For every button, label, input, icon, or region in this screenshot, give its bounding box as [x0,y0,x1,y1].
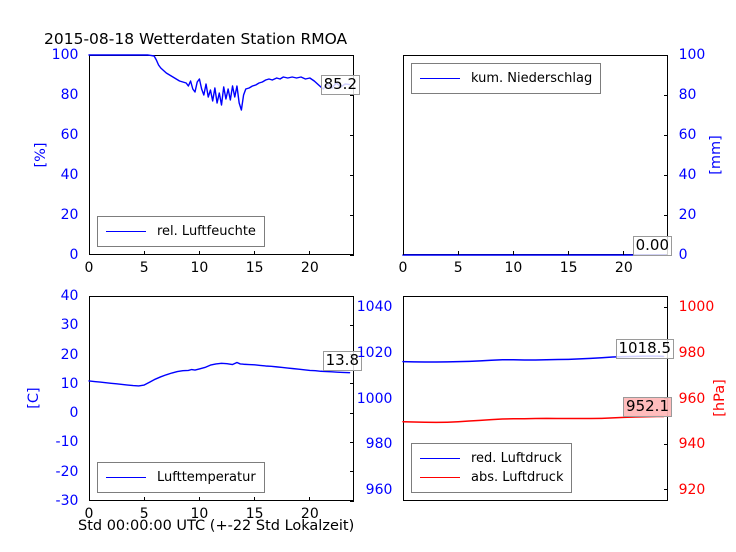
axis-tick-label: 0 [679,248,688,262]
axis-tick-label: 80 [61,88,79,102]
axis-tick-label: 10 [61,377,79,391]
panel-humidity: 020406080100 05101520 [%] rel. Luftfeuch… [89,55,354,255]
axis-tick-label: 60 [61,128,79,142]
axis-tick-mark [664,135,668,136]
axis-tick-mark [350,55,354,56]
axis-tick-mark [664,489,668,490]
axis-tick-mark [199,251,200,255]
legend-row-abs-luftdruck: abs. Luftdruck [420,468,563,487]
axis-tick-label: 20 [301,261,319,275]
axis-tick-mark [350,255,354,256]
legend-precipitation: kum. Niederschlag [411,63,601,94]
axis-tick-label: 0 [85,261,94,275]
legend-line-icon [420,477,460,478]
legend-row-niederschlag: kum. Niederschlag [420,69,592,88]
axis-tick-label: 0 [69,406,78,420]
axis-tick-label: 10 [504,261,522,275]
axis-tick-label: 100 [679,48,706,62]
axis-tick-mark [350,215,354,216]
axis-tick-label: 980 [679,346,706,360]
axis-tick-label: 20 [615,261,633,275]
axis-tick-mark [350,325,354,326]
axis-tick-label: 10 [190,261,208,275]
legend-pressure: red. Luftdruck abs. Luftdruck [411,443,572,493]
axis-tick-mark [664,175,668,176]
axis-tick-label: 5 [454,261,463,275]
panel-temperature: -30-20-10010203040 05101520 [C] Lufttemp… [89,296,354,501]
legend-line-icon [106,231,146,232]
panel-pressure: 960980100010201040 9209409609801000 [hPa… [403,296,668,501]
y-axis-label-precipitation: [mm] [709,135,724,175]
axis-tick-label: 980 [366,437,393,451]
axis-tick-label: 20 [679,208,697,222]
legend-row-luftfeuchte: rel. Luftfeuchte [106,222,256,241]
axis-tick-mark [350,296,354,297]
axis-tick-mark [309,251,310,255]
axis-tick-mark [458,251,459,255]
weather-dashboard-figure: 2015-08-18 Wetterdaten Station RMOA 0204… [0,0,736,552]
axis-tick-label: 960 [366,483,393,497]
axis-tick-mark [350,383,354,384]
axis-tick-label: -20 [56,465,79,479]
axis-tick-label: 1000 [357,392,393,406]
axis-tick-label: 100 [52,48,79,62]
axis-tick-label: 60 [679,128,697,142]
axis-tick-mark [664,444,668,445]
annotation-humidity-last-value: 85.2 [321,75,360,95]
axis-tick-mark [89,497,90,501]
axis-tick-label: 1020 [357,346,393,360]
axis-tick-mark [350,413,354,414]
axis-tick-label: 15 [560,261,578,275]
legend-row-lufttemperatur: Lufttemperatur [106,468,256,487]
axis-tick-label: 1000 [679,300,715,314]
axis-tick-label: 940 [679,437,706,451]
axis-tick-mark [664,95,668,96]
legend-line-icon [106,477,146,478]
axis-tick-mark [568,251,569,255]
axis-tick-label: 40 [679,168,697,182]
axis-tick-label: 80 [679,88,697,102]
axis-tick-label: 1040 [357,300,393,314]
axis-tick-mark [664,55,668,56]
legend-label-lufttemperatur: Lufttemperatur [157,470,256,485]
axis-tick-mark [513,251,514,255]
legend-line-icon [420,78,460,79]
x-axis-label: Std 00:00:00 UTC (+-22 Std Lokalzeit) [78,518,354,534]
legend-label-luftfeuchte: rel. Luftfeuchte [157,224,256,239]
axis-tick-label: 20 [61,348,79,362]
annotation-pressure-reduced-last-value: 1018.5 [616,339,675,359]
axis-tick-mark [199,497,200,501]
legend-label-niederschlag: kum. Niederschlag [471,71,592,86]
annotation-pressure-absolute-last-value: 952.1 [623,397,672,417]
axis-tick-label: -30 [56,494,79,508]
axis-tick-mark [254,251,255,255]
axis-tick-mark [309,497,310,501]
axis-tick-label: 40 [61,289,79,303]
legend-row-red-luftdruck: red. Luftdruck [420,449,563,468]
legend-line-icon [420,458,460,459]
axis-tick-mark [403,251,404,255]
y-axis-label-humidity: [%] [34,142,49,167]
axis-tick-mark [350,471,354,472]
axis-tick-label: 960 [679,392,706,406]
axis-tick-mark [350,175,354,176]
axis-tick-mark [623,251,624,255]
y-axis-label-temperature: [C] [27,387,42,408]
axis-tick-mark [664,215,668,216]
axis-tick-mark [254,497,255,501]
axis-tick-mark [350,501,354,502]
y-axis-label-pressure: [hPa] [713,379,728,416]
annotation-precipitation-last-value: 0.00 [633,236,672,256]
axis-tick-label: 0 [399,261,408,275]
axis-tick-mark [144,497,145,501]
axis-tick-label: 5 [140,261,149,275]
legend-temperature: Lufttemperatur [97,462,265,493]
axis-tick-label: 40 [61,168,79,182]
axis-tick-label: -10 [56,435,79,449]
axis-tick-mark [144,251,145,255]
axis-tick-label: 920 [679,483,706,497]
axis-tick-mark [350,442,354,443]
axis-tick-mark [89,251,90,255]
page-title: 2015-08-18 Wetterdaten Station RMOA [44,30,347,48]
legend-label-abs-luftdruck: abs. Luftdruck [471,470,563,485]
axis-tick-mark [350,135,354,136]
axis-tick-label: 30 [61,318,79,332]
legend-humidity: rel. Luftfeuchte [97,216,265,247]
axis-tick-mark [664,307,668,308]
legend-label-red-luftdruck: red. Luftdruck [471,451,562,466]
axis-tick-label: 20 [61,208,79,222]
axis-tick-label: 15 [246,261,264,275]
axis-tick-label: 0 [69,248,78,262]
panel-precipitation: 020406080100 05101520 [mm] kum. Niedersc… [403,55,668,255]
